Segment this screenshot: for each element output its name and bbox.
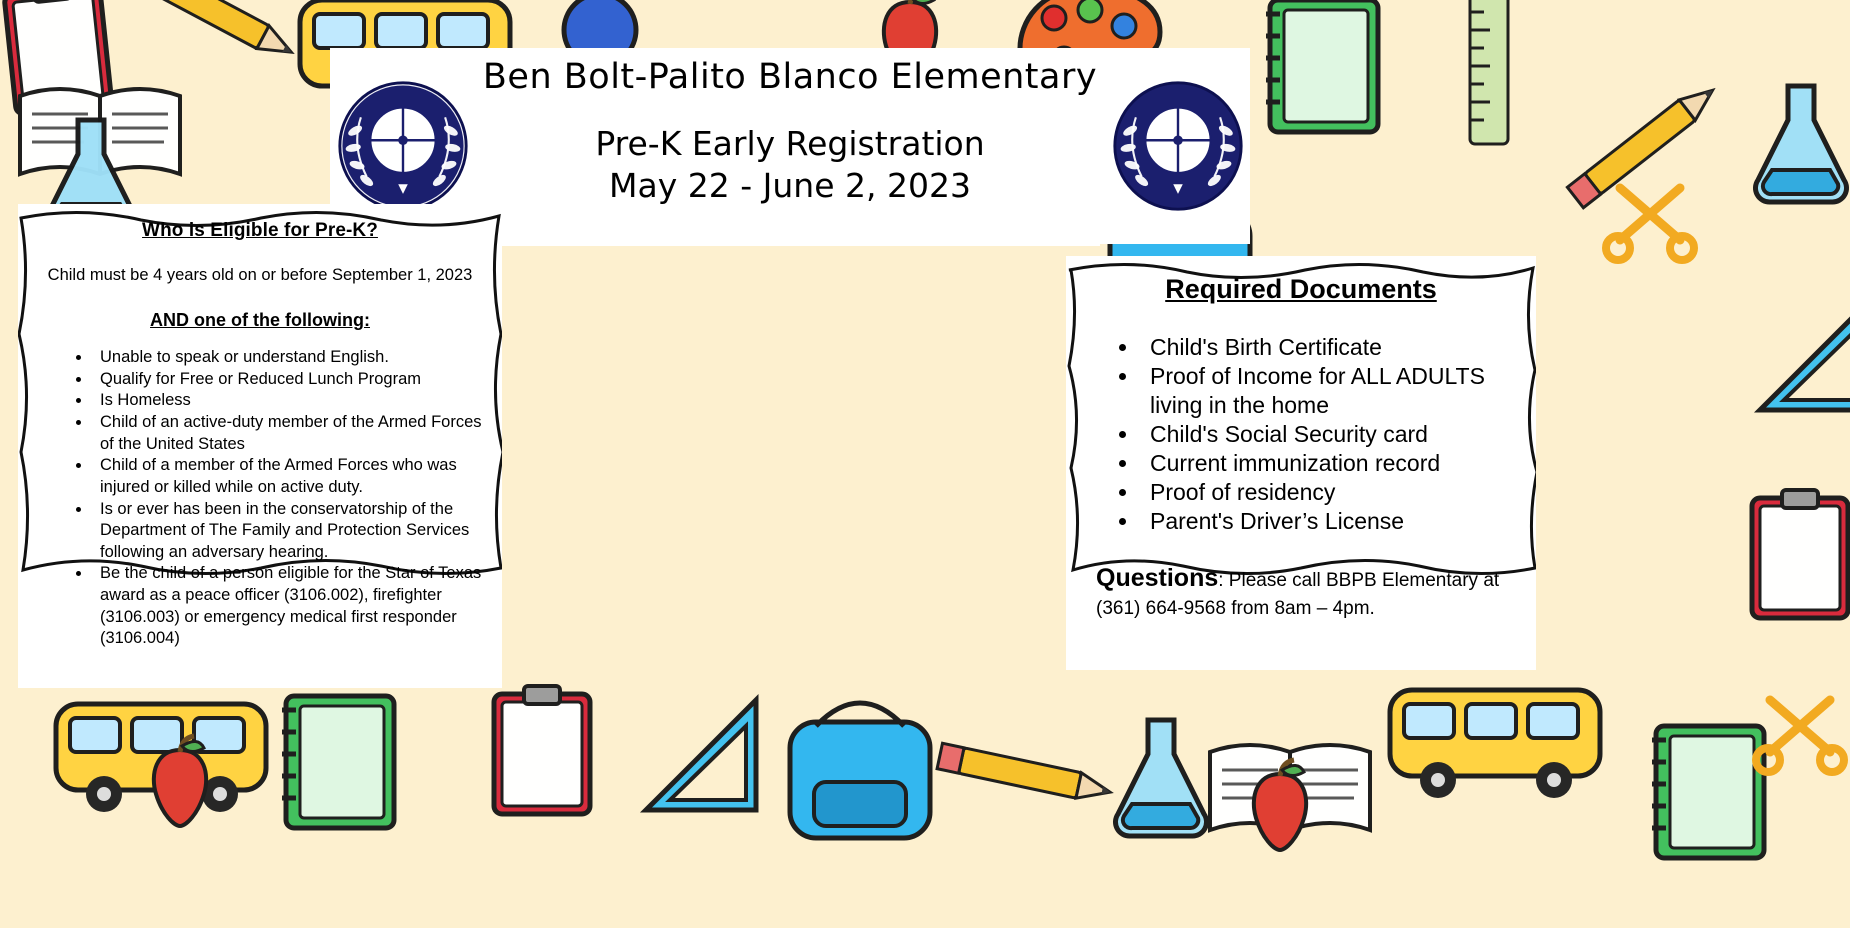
list-item: Proof of Income for ALL ADULTS living in… xyxy=(1140,362,1520,420)
eligibility-panel: Who is Eligible for Pre-K? Child must be… xyxy=(18,204,502,688)
school-name: Ben Bolt-Palito Blanco Elementary xyxy=(483,54,1097,101)
list-item: Child of a member of the Armed Forces wh… xyxy=(92,455,484,498)
school-logo-right xyxy=(1105,48,1250,244)
eligibility-subtitle: AND one of the following: xyxy=(36,310,484,331)
list-item: Child of an active-duty member of the Ar… xyxy=(92,412,484,455)
eligibility-intro: Child must be 4 years old on or before S… xyxy=(36,264,484,286)
list-item: Be the child of a person eligible for th… xyxy=(92,563,484,649)
list-item: Child's Social Security card xyxy=(1140,420,1520,449)
header-text-block: Ben Bolt-Palito Blanco Elementary Pre-K … xyxy=(475,48,1105,244)
required-documents-panel: Required Documents Child's Birth Certifi… xyxy=(1066,256,1536,670)
event-dates: May 22 - June 2, 2023 xyxy=(609,165,971,207)
event-title: Pre-K Early Registration xyxy=(595,123,984,165)
documents-title: Required Documents xyxy=(1082,274,1520,305)
list-item: Qualify for Free or Reduced Lunch Progra… xyxy=(92,369,484,391)
bbpb-isd-crest-icon xyxy=(1111,79,1245,213)
list-item: Is or ever has been in the conservatorsh… xyxy=(92,499,484,564)
list-item: Parent's Driver’s License xyxy=(1140,507,1520,536)
documents-list: Child's Birth Certificate Proof of Incom… xyxy=(1082,333,1520,536)
eligibility-title: Who is Eligible for Pre-K? xyxy=(36,220,484,242)
list-item: Is Homeless xyxy=(92,390,484,412)
list-item: Proof of residency xyxy=(1140,478,1520,507)
questions-block: Questions: Please call BBPB Elementary a… xyxy=(1082,562,1520,621)
list-item: Current immunization record xyxy=(1140,449,1520,478)
questions-label: Questions xyxy=(1096,564,1218,592)
eligibility-list: Unable to speak or understand English. Q… xyxy=(36,347,484,650)
bbpb-isd-crest-icon xyxy=(336,79,470,213)
list-item: Child's Birth Certificate xyxy=(1140,333,1520,362)
list-item: Unable to speak or understand English. xyxy=(92,347,484,369)
